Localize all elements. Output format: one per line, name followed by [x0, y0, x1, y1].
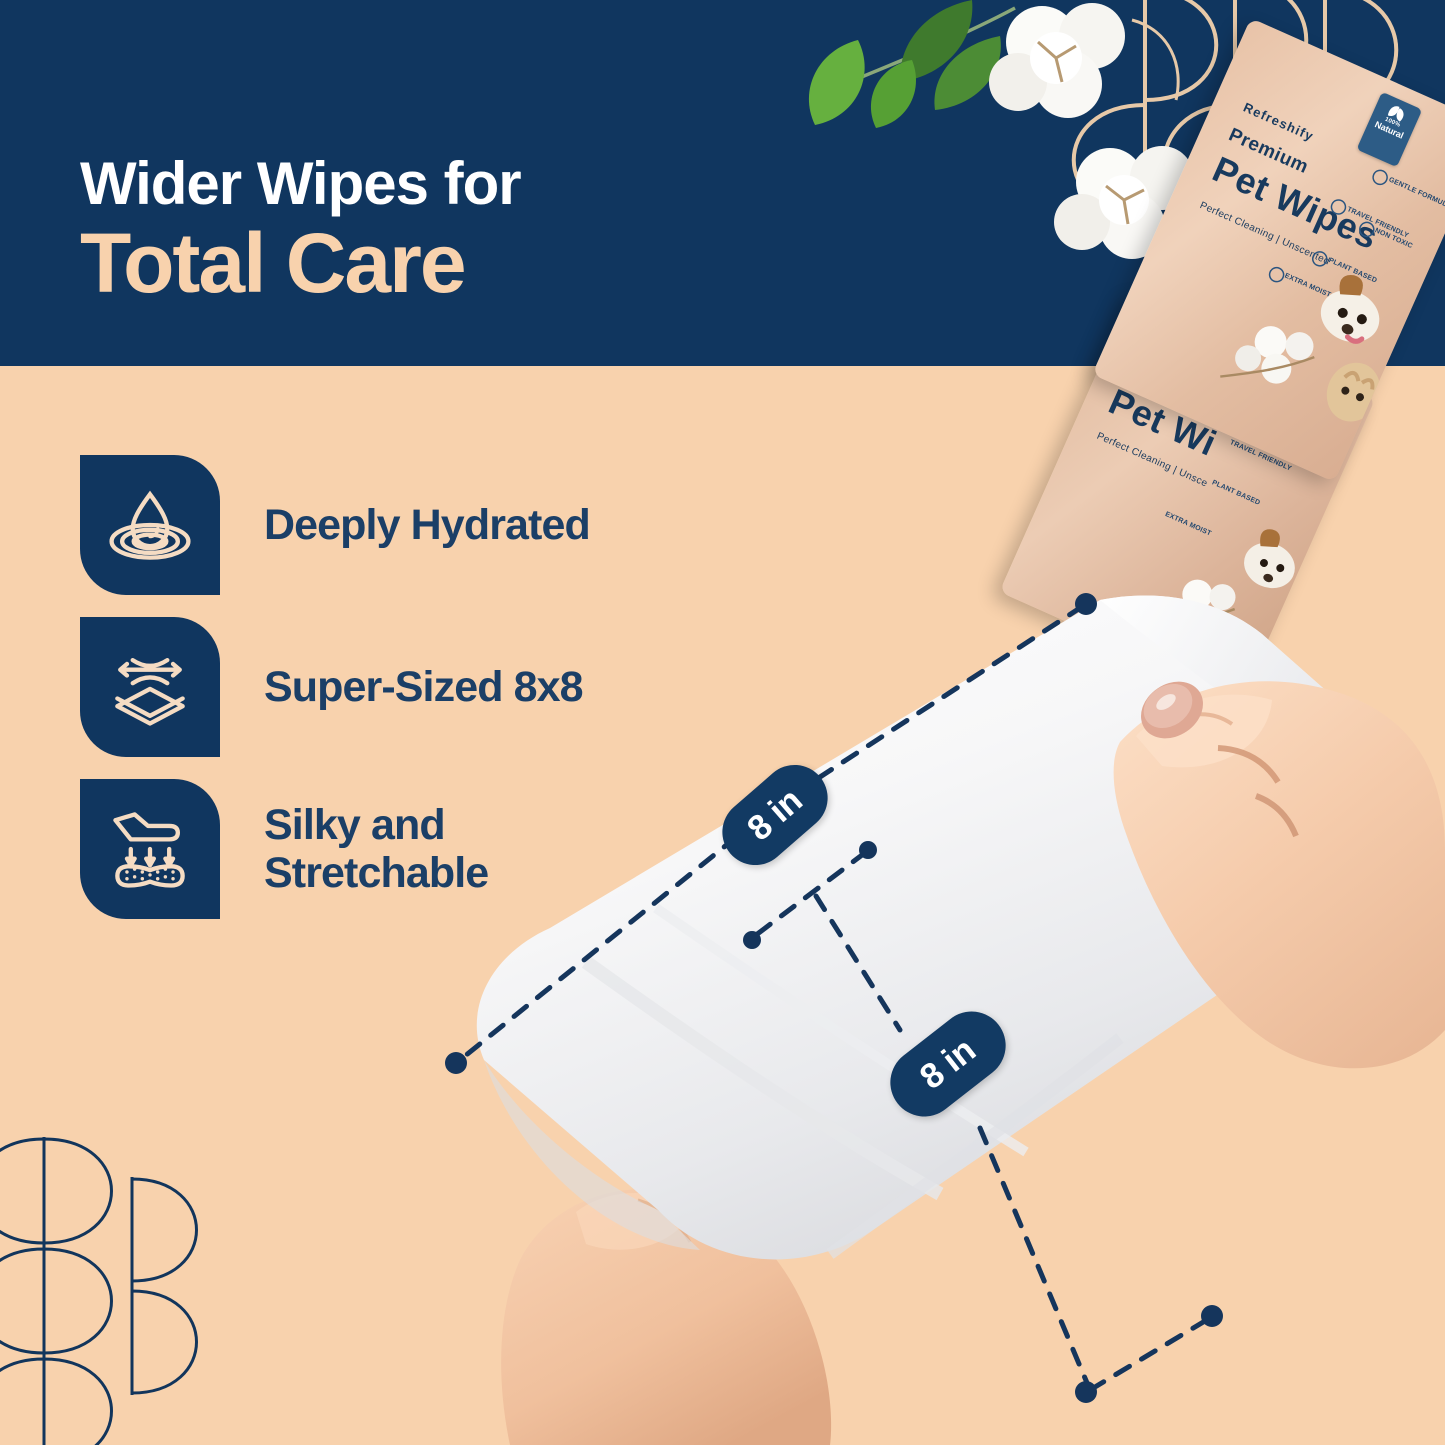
page-title: Wider Wipes for Total Care [80, 152, 521, 307]
hand-press-cushion-icon [102, 801, 198, 897]
cat-photo [1318, 354, 1390, 430]
product-infographic: Wider Wipes for Total Care Refre Premium… [0, 0, 1445, 1445]
feature-icon-tile [80, 455, 220, 595]
cotton-sprig-packet [1220, 309, 1321, 408]
headline-line-2: Total Care [80, 219, 521, 307]
product-packets-group: Refre Premium Pet Wi Perfect Cleaning | … [1020, 30, 1445, 600]
feature-icon-tile [80, 617, 220, 757]
water-drop-ripple-icon [102, 477, 198, 573]
hand-holding-wipe-photo [400, 560, 1445, 1445]
feature-icon-tile [80, 779, 220, 919]
feature-icon-circles [1267, 146, 1397, 310]
stretch-layers-icon [102, 639, 198, 735]
feature-label-deeply-hydrated: Deeply Hydrated [264, 501, 590, 549]
leaf-pattern-decoration-bottom-icon [0, 1121, 222, 1445]
headline-line-1: Wider Wipes for [80, 152, 521, 215]
eucalyptus-sprig-icon [809, 0, 1015, 128]
dog-photo [1313, 268, 1394, 351]
